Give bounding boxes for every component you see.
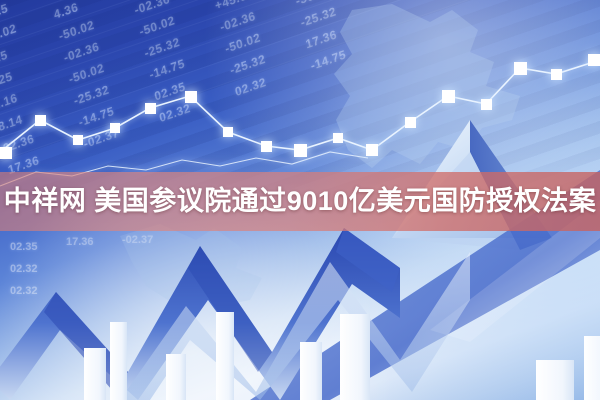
news-banner: -50.02 -02.36 -11.25 +45.02 02.36 21.06 … (0, 0, 600, 400)
bar-item (536, 360, 574, 400)
bar-item (340, 314, 370, 400)
bar-item (216, 312, 234, 400)
bar-item (110, 322, 127, 400)
ticker-lower-right: -02.37 (122, 234, 153, 246)
ticker-value: 02.32 (10, 258, 38, 280)
ticker-lower-mid: 17.36 (66, 236, 94, 248)
ticker-value: 02.32 (10, 280, 38, 302)
bar-item (584, 336, 600, 400)
ticker-value: 02.35 (10, 236, 38, 258)
bar-item (84, 348, 106, 400)
bar-item (166, 354, 186, 400)
page-title: 中祥网 美国参议院通过9010亿美元国防授权法案 (0, 172, 600, 231)
ticker-value: 17.36 (66, 236, 94, 248)
ticker-value: -02.37 (122, 234, 153, 246)
ticker-lower-left: 02.35 02.32 02.32 (10, 236, 38, 302)
bar-item (300, 342, 322, 400)
